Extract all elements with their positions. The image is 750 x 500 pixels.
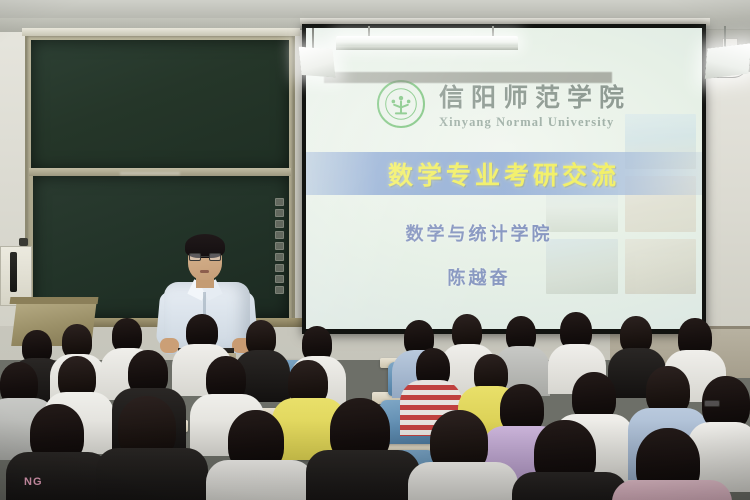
board-control-icon[interactable]	[275, 231, 284, 239]
university-name-cn: 信阳师范学院	[439, 78, 631, 114]
projection-screen: 信阳师范学院 Xinyang Normal University 数学专业考研交…	[302, 24, 706, 334]
glasses-icon	[704, 400, 720, 407]
slide-subtitle-block: 数学与统计学院 陈越奋	[364, 220, 594, 290]
university-name-en: Xinyang Normal University	[439, 115, 614, 130]
board-control-icon[interactable]	[275, 264, 284, 272]
chalkboard-top-rail	[22, 28, 300, 36]
light-fixture-shadow	[324, 72, 612, 83]
ceiling-lamp-left	[299, 47, 336, 78]
slide-subtitle: 数学与统计学院	[364, 220, 594, 246]
photo-tile	[625, 239, 697, 294]
fluorescent-tube-housing	[336, 46, 518, 50]
chalkboard-glare	[120, 172, 180, 175]
audience: NG	[0, 300, 750, 500]
board-control-icon[interactable]	[275, 286, 284, 294]
light-suspension-rod	[724, 26, 726, 48]
ceiling-lamp-right	[705, 43, 750, 79]
slide-title: 数学专业考研交流	[388, 156, 620, 192]
board-control-icon[interactable]	[275, 253, 284, 261]
board-control-panel[interactable]	[272, 196, 286, 302]
board-control-icon[interactable]	[275, 220, 284, 228]
presenter-mouth	[200, 270, 209, 273]
lecture-hall-scene: 信阳师范学院 Xinyang Normal University 数学专业考研交…	[0, 0, 750, 500]
university-emblem-icon	[377, 80, 425, 128]
shirt-text: NG	[24, 476, 43, 488]
board-control-icon[interactable]	[275, 275, 284, 283]
wall-knob-icon	[19, 238, 28, 246]
mounted-device-icon	[10, 252, 17, 292]
university-name-block: 信阳师范学院 Xinyang Normal University	[439, 78, 631, 130]
slide-speaker-name: 陈越奋	[364, 264, 594, 290]
board-control-icon[interactable]	[275, 209, 284, 217]
university-branding: 信阳师范学院 Xinyang Normal University	[306, 78, 702, 130]
glasses-icon	[189, 253, 221, 261]
board-control-icon[interactable]	[275, 242, 284, 250]
slide-title-band: 数学专业考研交流	[306, 152, 702, 195]
presentation-slide: 信阳师范学院 Xinyang Normal University 数学专业考研交…	[306, 28, 702, 329]
board-control-icon[interactable]	[275, 198, 284, 206]
chalkboard-upper-panel	[31, 40, 289, 170]
